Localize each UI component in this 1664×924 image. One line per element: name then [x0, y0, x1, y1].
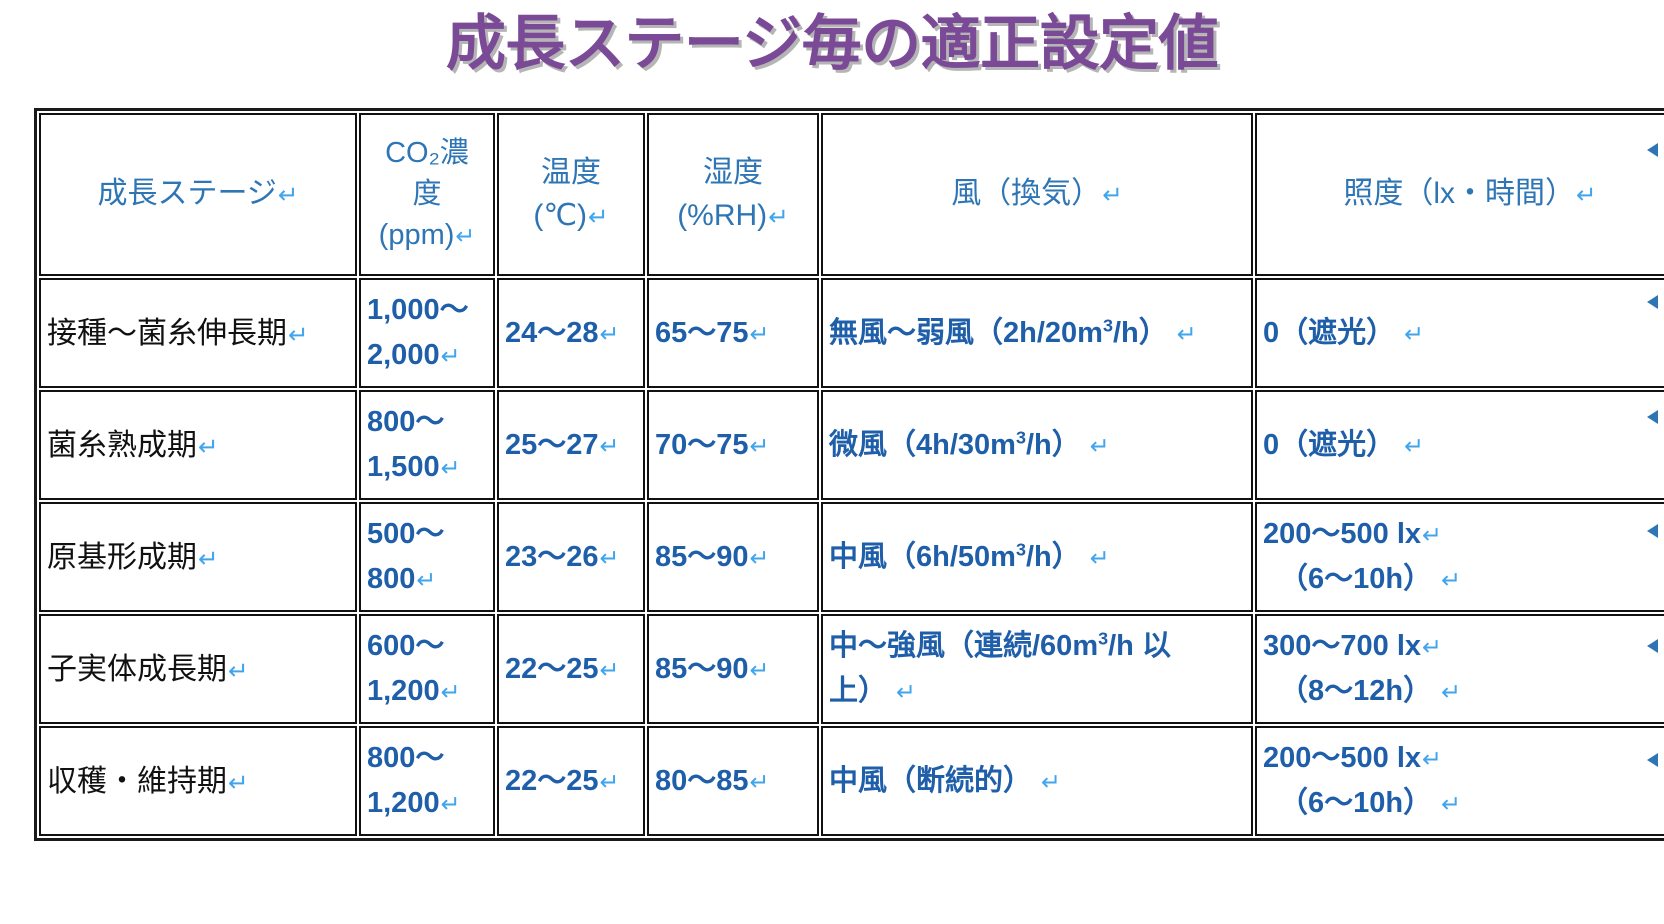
co2-value-line2: 2,000 [367, 339, 440, 371]
cell-co2: 1,000〜 2,000↵ [359, 278, 495, 388]
slide-canvas: 成長ステージ毎の適正設定値 成長ステージ↵ CO₂濃 [0, 0, 1664, 924]
co2-value-line2-wrapper: 2,000↵ [367, 333, 487, 378]
cell-temperature: 25〜27↵ [497, 390, 645, 500]
cell-humidity: 85〜90↵ [647, 502, 819, 612]
header-label-humidity-line1: 湿度 [655, 152, 811, 195]
return-mark-icon: ↵ [288, 322, 309, 349]
header-label-wind: 風（換気） [951, 177, 1101, 210]
return-mark-icon: ↵ [1576, 182, 1597, 209]
humidity-value: 65〜75 [655, 317, 749, 349]
humidity-value: 85〜90 [655, 653, 749, 685]
header-label-stage: 成長ステージ [97, 177, 276, 210]
co2-value-line2-wrapper: 800↵ [367, 557, 487, 602]
cell-illuminance: 0（遮光）↵ [1255, 278, 1664, 388]
co2-value-wrapper: 800〜 1,500↵ [367, 400, 487, 490]
cell-wind: 中風（6h/50m3/h）↵ [821, 502, 1253, 612]
return-mark-icon: ↵ [896, 679, 916, 706]
return-mark-icon: ↵ [1404, 321, 1424, 348]
stage-name: 子実体成長期 [47, 653, 227, 686]
wind-value-line1-wrapper: 中風（6h/50m3/h）↵ [829, 535, 1245, 580]
table-row: 子実体成長期↵ 600〜 1,200↵ 22〜25↵ 85〜90↵ [39, 614, 1664, 724]
stage-name-wrapper: 菌糸熟成期↵ [47, 426, 349, 465]
row-end-marker-icon [1647, 143, 1658, 157]
header-label-temperature-line1: 温度 [505, 152, 637, 195]
return-mark-icon: ↵ [1041, 769, 1061, 796]
header-cell-temperature: 温度 (℃)↵ [497, 113, 645, 276]
stage-name-wrapper: 子実体成長期↵ [47, 650, 349, 689]
co2-value-line2: 1,200 [367, 675, 440, 707]
header-label-humidity-line2: (%RH) [677, 199, 767, 232]
cell-temperature: 22〜25↵ [497, 614, 645, 724]
co2-value-wrapper: 1,000〜 2,000↵ [367, 288, 487, 378]
illuminance-value-line1: 0（遮光） [1263, 429, 1395, 461]
temperature-value-wrapper: 24〜28↵ [505, 311, 637, 356]
wind-value-line1-tail: /h） [1026, 541, 1081, 573]
stage-name: 収穫・維持期 [47, 765, 227, 798]
page-title: 成長ステージ毎の適正設定値 [446, 14, 1218, 74]
header-label-temperature-line2: (℃) [533, 199, 587, 232]
header-label-illuminance-wrapper: 照度（lx・時間）↵ [1263, 173, 1664, 216]
return-mark-icon: ↵ [228, 658, 249, 685]
wind-value-line1-wrapper: 微風（4h/30m3/h）↵ [829, 423, 1245, 468]
wind-value-line1: 中風（6h/50m [829, 541, 1016, 573]
header-label-wind-wrapper: 風（換気）↵ [829, 173, 1245, 216]
temperature-value-wrapper: 25〜27↵ [505, 423, 637, 468]
illuminance-value-line1-wrapper: 200〜500 lx↵ [1263, 736, 1664, 781]
co2-value-line2-wrapper: 1,500↵ [367, 445, 487, 490]
co2-value-line2: 800 [367, 563, 415, 595]
stage-name: 接種〜菌糸伸長期 [47, 317, 287, 350]
humidity-value: 80〜85 [655, 765, 749, 797]
illuminance-value-wrapper: 200〜500 lx↵ （6〜10h）↵ [1263, 512, 1664, 602]
header-label-co2-wrapper: CO₂濃 度 (ppm)↵ [367, 133, 487, 257]
wind-value-line1: 無風〜弱風（2h/20m [829, 317, 1103, 349]
return-mark-icon: ↵ [750, 769, 770, 796]
cell-co2: 600〜 1,200↵ [359, 614, 495, 724]
illuminance-value-line1-wrapper: 300〜700 lx↵ [1263, 624, 1664, 669]
cell-temperature: 23〜26↵ [497, 502, 645, 612]
wind-value-line2: 上） [829, 675, 887, 707]
wind-value-line1: 微風（4h/30m [829, 429, 1016, 461]
stage-name-wrapper: 接種〜菌糸伸長期↵ [47, 314, 349, 353]
return-mark-icon: ↵ [750, 657, 770, 684]
return-mark-icon: ↵ [600, 769, 620, 796]
illuminance-value-wrapper: 300〜700 lx↵ （8〜12h）↵ [1263, 624, 1664, 714]
cell-wind: 微風（4h/30m3/h）↵ [821, 390, 1253, 500]
return-mark-icon: ↵ [1422, 522, 1442, 549]
cell-temperature: 24〜28↵ [497, 278, 645, 388]
humidity-value-wrapper: 85〜90↵ [655, 535, 811, 580]
wind-value-wrapper: 微風（4h/30m3/h）↵ [829, 423, 1245, 468]
stage-name-wrapper: 収穫・維持期↵ [47, 762, 349, 801]
return-mark-icon: ↵ [1422, 746, 1442, 773]
illuminance-value-line2-wrapper: （6〜10h）↵ [1263, 557, 1664, 602]
cell-stage: 原基形成期↵ [39, 502, 357, 612]
illuminance-value-wrapper: 200〜500 lx↵ （6〜10h）↵ [1263, 736, 1664, 826]
cell-stage: 子実体成長期↵ [39, 614, 357, 724]
return-mark-icon: ↵ [600, 321, 620, 348]
cell-temperature: 22〜25↵ [497, 726, 645, 836]
header-label-temperature-wrapper: 温度 (℃)↵ [505, 152, 637, 237]
return-mark-icon: ↵ [600, 433, 620, 460]
return-mark-icon: ↵ [750, 433, 770, 460]
return-mark-icon: ↵ [198, 546, 219, 573]
cell-wind: 中風（断続的）↵ [821, 726, 1253, 836]
temperature-value-wrapper: 22〜25↵ [505, 647, 637, 692]
table-row: 原基形成期↵ 500〜 800↵ 23〜26↵ 85〜90↵ [39, 502, 1664, 612]
return-mark-icon: ↵ [1441, 791, 1461, 818]
header-label-co2-line3-wrapper: (ppm)↵ [367, 215, 487, 256]
return-mark-icon: ↵ [441, 455, 461, 482]
return-mark-icon: ↵ [416, 567, 436, 594]
header-cell-illuminance: 照度（lx・時間）↵ [1255, 113, 1664, 276]
temperature-value: 23〜26 [505, 541, 599, 573]
return-mark-icon: ↵ [1441, 679, 1461, 706]
stage-name: 原基形成期 [47, 541, 197, 574]
temperature-value-wrapper: 23〜26↵ [505, 535, 637, 580]
stage-name: 菌糸熟成期 [47, 429, 197, 462]
wind-value-line1-wrapper: 中風（断続的）↵ [829, 759, 1245, 804]
temperature-value: 24〜28 [505, 317, 599, 349]
stage-name-wrapper: 原基形成期↵ [47, 538, 349, 577]
co2-value-line1: 600〜 [367, 624, 487, 669]
return-mark-icon: ↵ [768, 204, 789, 231]
illuminance-value-line1: 200〜500 lx [1263, 742, 1421, 774]
illuminance-value-line1: 0（遮光） [1263, 317, 1395, 349]
illuminance-value-line1: 200〜500 lx [1263, 518, 1421, 550]
cell-illuminance: 300〜700 lx↵ （8〜12h）↵ [1255, 614, 1664, 724]
wind-value-line2-wrapper: 上）↵ [829, 669, 1245, 714]
return-mark-icon: ↵ [588, 204, 609, 231]
return-mark-icon: ↵ [750, 545, 770, 572]
header-label-co2-line3: (ppm) [379, 219, 455, 251]
cell-co2: 800〜 1,200↵ [359, 726, 495, 836]
illuminance-value-wrapper: 0（遮光）↵ [1263, 311, 1664, 356]
wind-value-line1-tail: /h 以 [1108, 630, 1171, 662]
humidity-value: 70〜75 [655, 429, 749, 461]
illuminance-value-line1-wrapper: 0（遮光）↵ [1263, 311, 1664, 356]
return-mark-icon: ↵ [455, 223, 475, 250]
header-label-co2-line1: CO₂濃 [367, 133, 487, 174]
settings-table-container: 成長ステージ↵ CO₂濃 度 (ppm)↵ 温度 (℃)↵ [34, 108, 1664, 841]
wind-value-superscript: 3 [1098, 628, 1108, 648]
co2-value-line1: 500〜 [367, 512, 487, 557]
illuminance-value-line2-wrapper: （6〜10h）↵ [1263, 781, 1664, 826]
illuminance-value-line2-wrapper: （8〜12h）↵ [1263, 669, 1664, 714]
cell-stage: 菌糸熟成期↵ [39, 390, 357, 500]
cell-co2: 800〜 1,500↵ [359, 390, 495, 500]
co2-value-line2: 1,200 [367, 787, 440, 819]
illuminance-value-line2: （6〜10h） [1279, 563, 1432, 595]
wind-value-wrapper: 中風（6h/50m3/h）↵ [829, 535, 1245, 580]
illuminance-value-line2: （6〜10h） [1279, 787, 1432, 819]
return-mark-icon: ↵ [750, 321, 770, 348]
row-end-marker-icon [1647, 295, 1658, 309]
co2-value-line1: 1,000〜 [367, 288, 487, 333]
wind-value-superscript: 3 [1103, 315, 1113, 335]
return-mark-icon: ↵ [1177, 321, 1197, 348]
cell-illuminance: 200〜500 lx↵ （6〜10h）↵ [1255, 726, 1664, 836]
row-end-marker-icon [1647, 410, 1658, 424]
return-mark-icon: ↵ [441, 791, 461, 818]
wind-value-line1-wrapper: 中〜強風（連続/60m3/h 以 [829, 624, 1245, 669]
illuminance-value-line1-wrapper: 0（遮光）↵ [1263, 423, 1664, 468]
co2-value-line1: 800〜 [367, 400, 487, 445]
return-mark-icon: ↵ [1422, 634, 1442, 661]
return-mark-icon: ↵ [600, 545, 620, 572]
illuminance-value-line1-wrapper: 200〜500 lx↵ [1263, 512, 1664, 557]
humidity-value-wrapper: 70〜75↵ [655, 423, 811, 468]
table-row: 接種〜菌糸伸長期↵ 1,000〜 2,000↵ 24〜28↵ 65〜75↵ [39, 278, 1664, 388]
temperature-value: 22〜25 [505, 653, 599, 685]
illuminance-value-line2: （8〜12h） [1279, 675, 1432, 707]
co2-value-line2: 1,500 [367, 451, 440, 483]
illuminance-value-line1: 300〜700 lx [1263, 630, 1421, 662]
wind-value-wrapper: 中風（断続的）↵ [829, 759, 1245, 804]
return-mark-icon: ↵ [441, 343, 461, 370]
cell-humidity: 65〜75↵ [647, 278, 819, 388]
return-mark-icon: ↵ [1102, 182, 1123, 209]
header-cell-wind: 風（換気）↵ [821, 113, 1253, 276]
header-label-humidity-wrapper: 湿度 (%RH)↵ [655, 152, 811, 237]
table-header-row: 成長ステージ↵ CO₂濃 度 (ppm)↵ 温度 (℃)↵ [39, 113, 1664, 276]
header-cell-stage: 成長ステージ↵ [39, 113, 357, 276]
return-mark-icon: ↵ [278, 182, 299, 209]
page-title-wrapper: 成長ステージ毎の適正設定値 [0, 14, 1664, 74]
return-mark-icon: ↵ [1404, 433, 1424, 460]
table-row: 収穫・維持期↵ 800〜 1,200↵ 22〜25↵ 80〜85↵ [39, 726, 1664, 836]
cell-humidity: 80〜85↵ [647, 726, 819, 836]
humidity-value-wrapper: 65〜75↵ [655, 311, 811, 356]
wind-value-line1-tail: /h） [1113, 317, 1168, 349]
temperature-value-wrapper: 22〜25↵ [505, 759, 637, 804]
humidity-value-wrapper: 80〜85↵ [655, 759, 811, 804]
return-mark-icon: ↵ [1441, 567, 1461, 594]
cell-stage: 収穫・維持期↵ [39, 726, 357, 836]
cell-humidity: 85〜90↵ [647, 614, 819, 724]
temperature-value: 22〜25 [505, 765, 599, 797]
wind-value-superscript: 3 [1016, 539, 1026, 559]
header-cell-humidity: 湿度 (%RH)↵ [647, 113, 819, 276]
cell-wind: 無風〜弱風（2h/20m3/h）↵ [821, 278, 1253, 388]
header-label-stage-wrapper: 成長ステージ↵ [47, 173, 349, 216]
cell-stage: 接種〜菌糸伸長期↵ [39, 278, 357, 388]
wind-value-wrapper: 無風〜弱風（2h/20m3/h）↵ [829, 311, 1245, 356]
row-end-marker-icon [1647, 524, 1658, 538]
return-mark-icon: ↵ [600, 657, 620, 684]
wind-value-line1: 中風（断続的） [829, 765, 1032, 797]
row-end-marker-icon [1647, 639, 1658, 653]
co2-value-wrapper: 600〜 1,200↵ [367, 624, 487, 714]
header-cell-co2: CO₂濃 度 (ppm)↵ [359, 113, 495, 276]
return-mark-icon: ↵ [198, 434, 219, 461]
header-label-co2-line2: 度 [367, 174, 487, 215]
wind-value-line1-wrapper: 無風〜弱風（2h/20m3/h）↵ [829, 311, 1245, 356]
cell-co2: 500〜 800↵ [359, 502, 495, 612]
co2-value-wrapper: 800〜 1,200↵ [367, 736, 487, 826]
cell-illuminance: 0（遮光）↵ [1255, 390, 1664, 500]
cell-humidity: 70〜75↵ [647, 390, 819, 500]
co2-value-line1: 800〜 [367, 736, 487, 781]
settings-table: 成長ステージ↵ CO₂濃 度 (ppm)↵ 温度 (℃)↵ [37, 111, 1664, 838]
wind-value-wrapper: 中〜強風（連続/60m3/h 以 上）↵ [829, 624, 1245, 714]
return-mark-icon: ↵ [441, 679, 461, 706]
row-end-marker-icon [1647, 753, 1658, 767]
illuminance-value-wrapper: 0（遮光）↵ [1263, 423, 1664, 468]
wind-value-line1-tail: /h） [1026, 429, 1081, 461]
return-mark-icon: ↵ [228, 770, 249, 797]
table-row: 菌糸熟成期↵ 800〜 1,500↵ 25〜27↵ 70〜75↵ [39, 390, 1664, 500]
wind-value-superscript: 3 [1016, 427, 1026, 447]
co2-value-line2-wrapper: 1,200↵ [367, 781, 487, 826]
return-mark-icon: ↵ [1090, 545, 1110, 572]
co2-value-wrapper: 500〜 800↵ [367, 512, 487, 602]
return-mark-icon: ↵ [1090, 433, 1110, 460]
temperature-value: 25〜27 [505, 429, 599, 461]
header-label-humidity-line2-wrapper: (%RH)↵ [655, 195, 811, 238]
header-label-illuminance: 照度（lx・時間） [1343, 177, 1575, 210]
wind-value-line1: 中〜強風（連続/60m [829, 630, 1098, 662]
header-label-temperature-line2-wrapper: (℃)↵ [505, 195, 637, 238]
humidity-value-wrapper: 85〜90↵ [655, 647, 811, 692]
cell-illuminance: 200〜500 lx↵ （6〜10h）↵ [1255, 502, 1664, 612]
cell-wind: 中〜強風（連続/60m3/h 以 上）↵ [821, 614, 1253, 724]
co2-value-line2-wrapper: 1,200↵ [367, 669, 487, 714]
humidity-value: 85〜90 [655, 541, 749, 573]
